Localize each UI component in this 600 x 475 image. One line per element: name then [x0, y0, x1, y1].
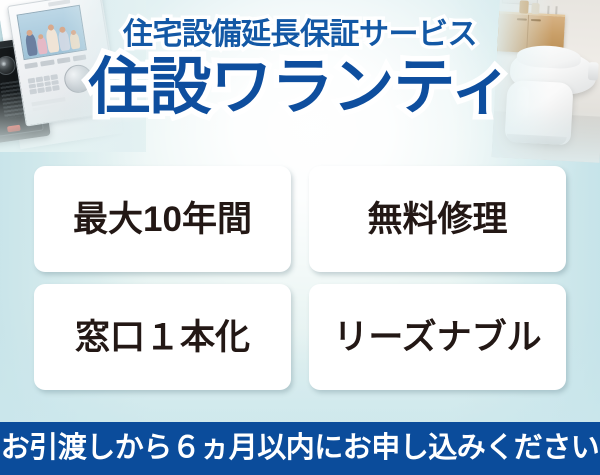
feature-box-reasonable: リーズナブル [309, 284, 566, 390]
feature-grid: 最大10年間 無料修理 窓口１本化 リーズナブル [34, 166, 566, 390]
feature-label: リーズナブル [333, 320, 541, 355]
footer-notice-label: お引渡しから６ヵ月以内にお申し込みください [1, 434, 600, 463]
feature-label: 窓口１本化 [75, 320, 250, 355]
feature-label: 無料修理 [367, 202, 507, 237]
feature-box-max-years: 最大10年間 [34, 166, 291, 272]
promotional-banner: 住宅設備延長保証サービス 住設ワランティ 最大10年間 無料修理 窓口１本化 リ… [0, 0, 600, 475]
feature-box-free-repair: 無料修理 [309, 166, 566, 272]
feature-label: 最大10年間 [73, 202, 252, 237]
feature-box-single-contact: 窓口１本化 [34, 284, 291, 390]
page-title: 住設ワランティ [0, 57, 600, 119]
headline-group: 住宅設備延長保証サービス 住設ワランティ [0, 0, 600, 160]
footer-notice-bar: お引渡しから６ヵ月以内にお申し込みください [0, 422, 600, 475]
service-subtitle: 住宅設備延長保証サービス [0, 20, 600, 50]
